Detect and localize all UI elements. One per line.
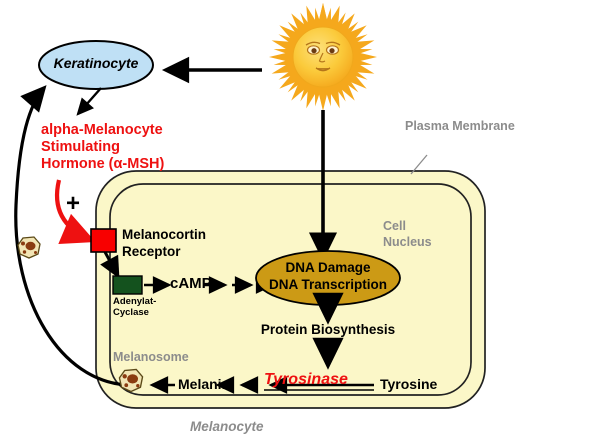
adenylate-cyclase-label-line2: Cyclase: [113, 308, 149, 319]
protein-biosynthesis-label: Protein Biosynthesis: [248, 322, 408, 337]
msh-label-line1: alpha-Melanocyte: [41, 122, 163, 138]
melanocortin-receptor-label-line1: Melanocortin: [122, 227, 206, 242]
sun-with-face-icon: [269, 3, 377, 111]
plasma-membrane-label: Plasma Membrane: [405, 119, 515, 133]
melanosome-icon: [119, 369, 142, 391]
tyrosine-label: Tyrosine: [380, 377, 437, 393]
nucleus-dna-transcription-label: DNA Transcription: [248, 277, 408, 292]
cell-nucleus-label: Cell Nucleus: [383, 219, 432, 250]
keratinocyte-to-msh-arrow: [78, 88, 101, 114]
melanocyte-label: Melanocyte: [190, 419, 264, 434]
stimulation-plus-sign: +: [66, 191, 80, 218]
keratinocyte-label: Keratinocyte: [43, 56, 149, 72]
adenylate-cyclase-icon: [113, 276, 142, 294]
msh-label-line2: Stimulating: [41, 139, 120, 155]
msh-label-line3: Hormone (α-MSH): [41, 156, 164, 172]
melanosome-icon: [18, 237, 40, 258]
melanosome-label: Melanosome: [113, 350, 189, 364]
melanocortin-receptor-icon: [91, 229, 116, 252]
diagram-canvas: Keratinocyte alpha-Melanocyte Stimulatin…: [0, 0, 600, 441]
camp-label: cAMP: [170, 276, 212, 293]
nucleus-dna-damage-label: DNA Damage: [258, 260, 398, 275]
tyrosinase-label: Tyrosinase: [264, 371, 348, 389]
melanocortin-receptor-label-line2: Receptor: [122, 244, 181, 259]
melanin-label: Melanin: [178, 377, 230, 393]
